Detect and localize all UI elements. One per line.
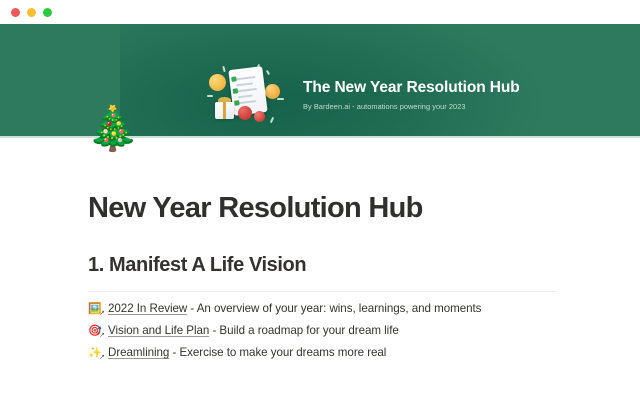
red-ornament-icon xyxy=(238,106,252,120)
cover-banner: The New Year Resolution Hub By Bardeen.a… xyxy=(205,62,485,128)
gold-ornament-icon xyxy=(265,84,280,99)
gift-box-icon xyxy=(215,102,234,119)
gold-ornament-icon xyxy=(209,74,226,91)
app-window: The New Year Resolution Hub By Bardeen.a… xyxy=(0,0,640,400)
section-heading: 1. Manifest A Life Vision xyxy=(88,254,306,277)
list-item-link[interactable]: Dreamlining xyxy=(108,346,169,359)
minimize-button[interactable] xyxy=(27,8,36,17)
list-item-text: Vision and Life Plan - Build a roadmap f… xyxy=(108,320,399,342)
sparkle-decor xyxy=(222,66,225,72)
checkmark-icon xyxy=(231,76,237,82)
clipboard-ornaments-illustration xyxy=(205,62,291,128)
checkmark-icon xyxy=(234,100,240,106)
sparkle-decor xyxy=(277,98,284,100)
banner-title: The New Year Resolution Hub xyxy=(303,79,520,98)
maximize-button[interactable] xyxy=(43,8,52,17)
banner-text-block: The New Year Resolution Hub By Bardeen.a… xyxy=(303,79,520,112)
sparkle-decor xyxy=(207,95,213,97)
target-dart-icon: 🎯 xyxy=(88,320,104,342)
list-item-description: - An overview of your year: wins, learni… xyxy=(187,302,481,315)
window-titlebar xyxy=(0,0,640,24)
list-item-text: 2022 In Review - An overview of your yea… xyxy=(108,298,481,320)
resolution-link-list: 🖼️ 2022 In Review - An overview of your … xyxy=(88,298,608,364)
page-title: New Year Resolution Hub xyxy=(88,193,423,225)
list-item[interactable]: ✨ Dreamlining - Exercise to make your dr… xyxy=(88,342,608,364)
list-item[interactable]: 🖼️ 2022 In Review - An overview of your … xyxy=(88,298,608,320)
section-divider xyxy=(88,291,555,292)
framed-picture-icon: 🖼️ xyxy=(88,298,104,320)
close-button[interactable] xyxy=(11,8,20,17)
list-item-link[interactable]: 2022 In Review xyxy=(108,302,187,315)
christmas-tree-emoji: 🎄 xyxy=(86,108,140,151)
sparkle-decor xyxy=(270,117,274,123)
list-item-description: - Build a roadmap for your dream life xyxy=(209,324,398,337)
page-content: New Year Resolution Hub 1. Manifest A Li… xyxy=(0,138,640,400)
red-ornament-icon xyxy=(254,111,265,122)
list-item-description: - Exercise to make your dreams more real xyxy=(169,346,386,359)
sparkles-icon: ✨ xyxy=(88,342,104,364)
checkmark-icon xyxy=(233,88,239,94)
banner-subtitle: By Bardeen.ai - automations powering you… xyxy=(303,102,520,111)
list-item-link[interactable]: Vision and Life Plan xyxy=(108,324,209,337)
list-item[interactable]: 🎯 Vision and Life Plan - Build a roadmap… xyxy=(88,320,608,342)
sparkle-decor xyxy=(266,70,270,75)
list-item-text: Dreamlining - Exercise to make your drea… xyxy=(108,342,386,364)
